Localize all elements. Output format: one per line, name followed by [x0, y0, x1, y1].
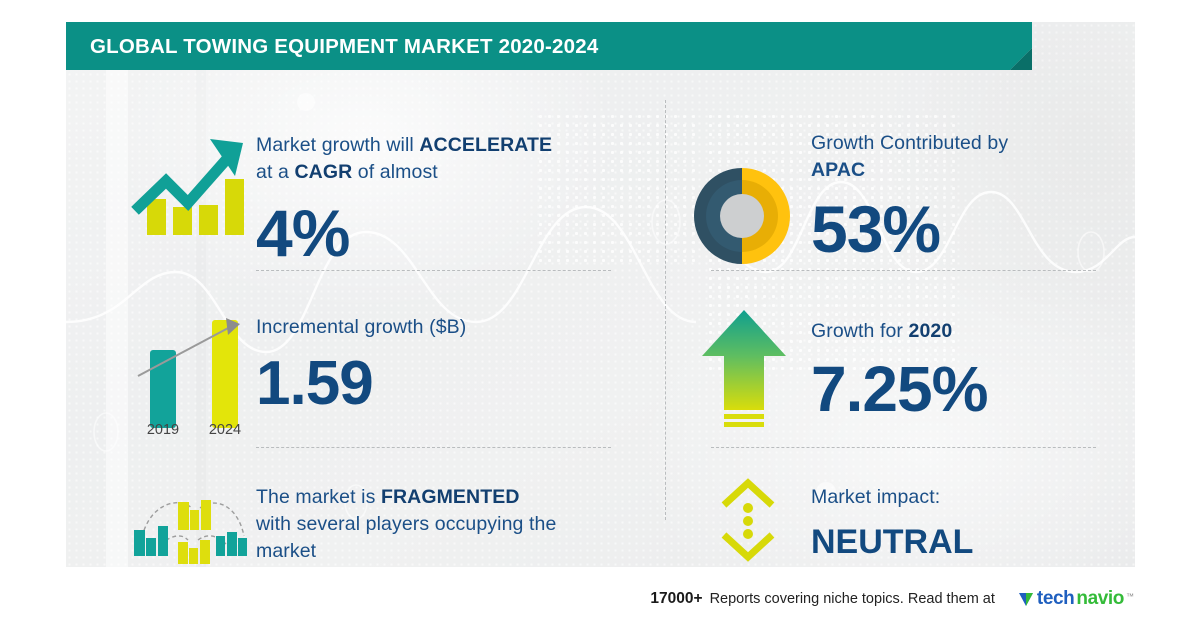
technavio-logo[interactable]: tech navio ™ — [1018, 588, 1134, 610]
bar-label-2024: 2024 — [197, 422, 253, 438]
apac-region: APAC — [811, 157, 1131, 184]
up-arrow-icon — [694, 304, 794, 439]
content-card: GLOBAL TOWING EQUIPMENT MARKET 2020-2024 — [66, 22, 1135, 567]
donut-chart-icon — [690, 164, 794, 273]
left-divider-2 — [256, 447, 611, 448]
infographic-root: GLOBAL TOWING EQUIPMENT MARKET 2020-2024 — [0, 0, 1200, 627]
cagr-suffix: of almost — [352, 161, 438, 183]
apac-value: 53% — [811, 196, 1131, 262]
growth-2020-prefix: Growth for — [811, 320, 909, 342]
footer-bar: 17000+ Reports covering niche topics. Re… — [0, 579, 1200, 619]
incremental-growth-value: 1.59 — [256, 353, 616, 415]
market-impact-block: Market impact: NEUTRAL — [811, 484, 1131, 559]
apac-growth-block: Growth Contributed by APAC 53% — [811, 130, 1131, 262]
growth-2020-label: Growth for 2020 — [811, 318, 1135, 345]
technavio-mark-icon — [1018, 589, 1035, 608]
report-count: 17000+ — [650, 590, 702, 608]
footer-text: Reports covering niche topics. Read them… — [710, 591, 995, 607]
accelerate-line-1-prefix: Market growth will — [256, 134, 419, 156]
logo-trademark: ™ — [1126, 592, 1134, 601]
page-title: GLOBAL TOWING EQUIPMENT MARKET 2020-2024 — [90, 35, 598, 59]
fragmented-line-3: market — [256, 538, 626, 565]
title-banner: GLOBAL TOWING EQUIPMENT MARKET 2020-2024 — [66, 22, 1032, 70]
apac-label: Growth Contributed by — [811, 130, 1131, 157]
accelerate-line-2: at a CAGR of almost — [256, 159, 616, 186]
fragmented-keyword: FRAGMENTED — [381, 486, 520, 508]
bar-label-2019: 2019 — [135, 422, 191, 438]
accelerate-keyword: ACCELERATE — [419, 134, 552, 156]
logo-text-navio: navio — [1076, 588, 1124, 610]
fragmented-line-2: with several players occupying the — [256, 511, 626, 538]
growth-2020-block: Growth for 2020 7.25% — [811, 318, 1135, 421]
cagr-keyword: CAGR — [294, 161, 352, 183]
growth-2020-year: 2020 — [909, 320, 953, 342]
left-divider-1 — [256, 270, 611, 271]
fragmented-line-1: The market is FRAGMENTED — [256, 484, 626, 511]
fragmented-prefix: The market is — [256, 486, 381, 508]
market-impact-value: NEUTRAL — [811, 525, 1131, 559]
neutral-impact-icon — [716, 477, 780, 567]
logo-text-tech: tech — [1037, 588, 1074, 610]
incremental-growth-block: Incremental growth ($B) 1.59 — [256, 314, 616, 415]
growth-chart-icon — [131, 127, 251, 247]
cagr-value: 4% — [256, 200, 616, 266]
accelerate-text-block: Market growth will ACCELERATE at a CAGR … — [256, 132, 616, 266]
cagr-prefix: at a — [256, 161, 294, 183]
right-divider-2 — [711, 447, 1096, 448]
accelerate-line-1: Market growth will ACCELERATE — [256, 132, 616, 159]
market-impact-label: Market impact: — [811, 484, 1131, 511]
incremental-growth-label: Incremental growth ($B) — [256, 314, 616, 341]
fragmented-market-icon — [120, 482, 260, 567]
column-divider — [665, 100, 666, 520]
bar-comparison-icon: 2019 2024 2019 2024 — [116, 290, 256, 435]
fragmented-text-block: The market is FRAGMENTED with several pl… — [256, 484, 626, 565]
growth-2020-value: 7.25% — [811, 357, 1135, 421]
